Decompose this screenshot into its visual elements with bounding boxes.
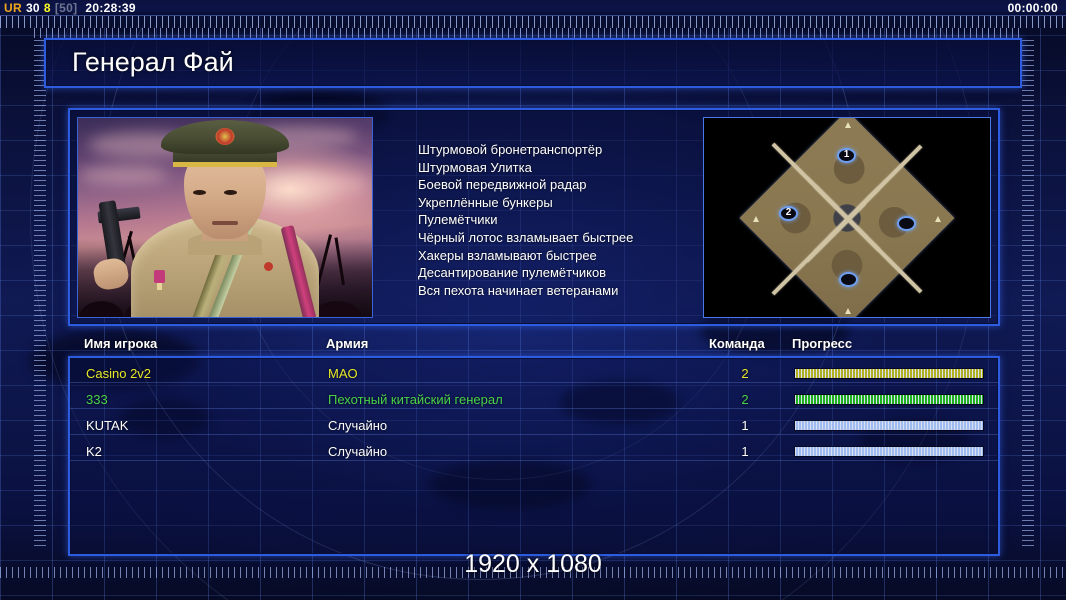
map-preview-inner: 1 2 bbox=[749, 120, 945, 316]
status-bar-left: UR 30 8 [50] 20:28:39 bbox=[4, 2, 136, 14]
player-army: Случайно bbox=[328, 444, 387, 459]
status-label: UR bbox=[4, 2, 22, 14]
ability-line: Штурмовая Улитка bbox=[418, 160, 706, 177]
page-title: Генерал Фай bbox=[72, 47, 234, 78]
map-flag bbox=[845, 308, 851, 314]
column-header-name: Имя игрока bbox=[84, 336, 157, 351]
player-name: 333 bbox=[86, 392, 108, 407]
status-clock: 20:28:39 bbox=[85, 2, 135, 14]
column-header-progress: Прогресс bbox=[792, 336, 852, 351]
ability-line: Боевой передвижной радар bbox=[418, 177, 706, 194]
general-abilities-list: Штурмовой бронетранспортёрШтурмовая Улит… bbox=[418, 142, 706, 299]
portrait-eye bbox=[224, 190, 237, 195]
map-preview: 1 2 bbox=[703, 117, 991, 318]
player-army: MAO bbox=[328, 366, 358, 381]
portrait-eye bbox=[193, 190, 206, 195]
player-table-panel: Casino 2v2MAO2333Пехотный китайский гене… bbox=[68, 356, 1000, 556]
progress-bar bbox=[794, 446, 984, 457]
ability-line: Хакеры взламывают быстрее bbox=[418, 248, 706, 265]
ability-line: Вся пехота начинает ветеранами bbox=[418, 283, 706, 300]
table-row[interactable]: K2Случайно1 bbox=[70, 440, 1002, 466]
map-start-position[interactable] bbox=[839, 272, 858, 287]
column-header-army: Армия bbox=[326, 336, 368, 351]
resolution-overlay: 1920 x 1080 bbox=[0, 550, 1066, 579]
ability-line: Укреплённые бункеры bbox=[418, 195, 706, 212]
portrait-medal bbox=[154, 270, 165, 283]
player-army: Случайно bbox=[328, 418, 387, 433]
player-name: K2 bbox=[86, 444, 102, 459]
status-secondary: 8 bbox=[44, 2, 51, 14]
progress-bar bbox=[794, 420, 984, 431]
status-right-clock: 00:00:00 bbox=[1008, 2, 1062, 14]
frame-ruler-left bbox=[34, 40, 46, 550]
player-team: 1 bbox=[735, 418, 755, 433]
map-start-position[interactable]: 1 bbox=[837, 148, 856, 163]
table-row[interactable]: 333Пехотный китайский генерал2 bbox=[70, 388, 1002, 414]
table-row[interactable]: Casino 2v2MAO2 bbox=[70, 362, 1002, 388]
title-panel: Генерал Фай bbox=[44, 38, 1022, 88]
player-team: 1 bbox=[735, 444, 755, 459]
table-row[interactable]: KUTAKСлучайно1 bbox=[70, 414, 1002, 440]
player-rows: Casino 2v2MAO2333Пехотный китайский гене… bbox=[70, 362, 1002, 466]
portrait-star-badge bbox=[264, 262, 273, 271]
progress-bar-fill bbox=[795, 369, 983, 378]
general-info-panel: Штурмовой бронетранспортёрШтурмовая Улит… bbox=[68, 108, 1000, 326]
progress-bar bbox=[794, 368, 984, 379]
player-name: Casino 2v2 bbox=[86, 366, 151, 381]
progress-bar-fill bbox=[795, 395, 983, 404]
ability-line: Штурмовой бронетранспортёр bbox=[418, 142, 706, 159]
map-start-position[interactable]: 2 bbox=[779, 206, 798, 221]
player-name: KUTAK bbox=[86, 418, 128, 433]
status-bar-ruler bbox=[0, 16, 1066, 28]
status-bar-right: 00:00:00 bbox=[1008, 2, 1062, 14]
portrait-cap-emblem bbox=[216, 128, 235, 145]
map-flag bbox=[935, 216, 941, 222]
portrait-mouth bbox=[212, 221, 238, 225]
frame-ruler-right bbox=[1022, 40, 1034, 550]
ability-line: Чёрный лотос взламывает быстрее bbox=[418, 230, 706, 247]
player-team: 2 bbox=[735, 366, 755, 381]
loading-screen: UR 30 8 [50] 20:28:39 00:00:00 Генерал Ф… bbox=[0, 0, 1066, 600]
player-table-header: Имя игрока Армия Команда Прогресс bbox=[68, 336, 1000, 356]
player-army: Пехотный китайский генерал bbox=[328, 392, 503, 407]
map-start-position[interactable] bbox=[897, 216, 916, 231]
progress-bar-fill bbox=[795, 447, 983, 456]
status-bracket: [50] bbox=[55, 2, 78, 14]
portrait-cap-trim bbox=[173, 162, 277, 167]
progress-bar bbox=[794, 394, 984, 405]
general-portrait bbox=[77, 117, 373, 318]
player-team: 2 bbox=[735, 392, 755, 407]
map-flag bbox=[845, 122, 851, 128]
map-flag bbox=[753, 216, 759, 222]
ability-line: Пулемётчики bbox=[418, 212, 706, 229]
portrait-cloud bbox=[268, 174, 368, 194]
ability-line: Десантирование пулемётчиков bbox=[418, 265, 706, 282]
portrait-cloud bbox=[78, 166, 168, 184]
status-value: 30 bbox=[26, 2, 40, 14]
status-bar: UR 30 8 [50] 20:28:39 00:00:00 bbox=[0, 0, 1066, 16]
progress-bar-fill bbox=[795, 421, 983, 430]
column-header-team: Команда bbox=[709, 336, 765, 351]
